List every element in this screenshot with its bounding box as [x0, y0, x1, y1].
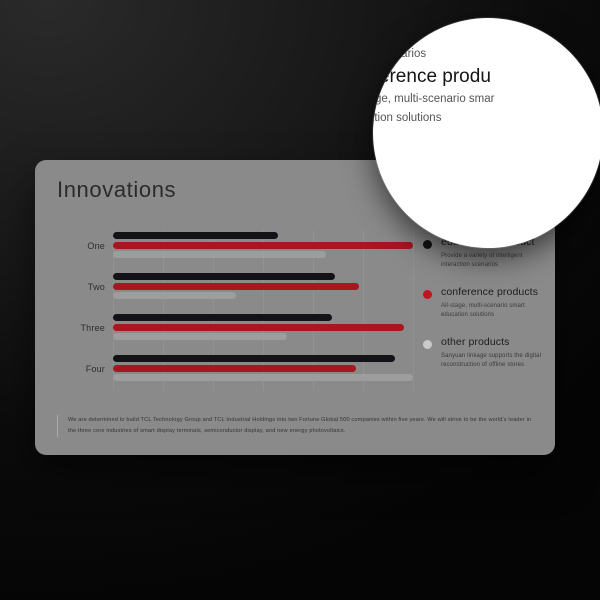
chart-bar — [113, 283, 359, 290]
chart-row-bars — [113, 232, 413, 261]
magnified-description: All-stage, multi-scenario smar — [373, 90, 600, 109]
chart-row: Three — [53, 312, 413, 348]
chart-bar — [113, 314, 332, 321]
chart-row-label: Two — [53, 282, 105, 292]
legend-item-description: Sanyuan linkage supports the digital rec… — [441, 352, 548, 369]
chart-bar — [113, 242, 413, 249]
legend-item-description: All-stage, multi-scenario smart educatio… — [441, 302, 548, 319]
legend-item[interactable]: conference productsAll-stage, multi-scen… — [423, 286, 548, 319]
magnifier-content: a variety of iaction scenariosconference… — [373, 26, 600, 128]
chart-row-label: Three — [53, 323, 105, 333]
legend-item-description: Provide a variety of intelligent interac… — [441, 252, 548, 269]
magnifier-loupe: a variety of iaction scenariosconference… — [373, 18, 600, 248]
chart-bar — [113, 251, 326, 258]
chart-bar — [113, 324, 404, 331]
legend-dot-educational — [423, 240, 432, 249]
gridline — [413, 230, 414, 390]
chart-row: Four — [53, 353, 413, 389]
chart-row-label: One — [53, 241, 105, 251]
chart-row: Two — [53, 271, 413, 307]
legend-item-label: other products — [441, 336, 548, 349]
chart-row-bars — [113, 314, 413, 343]
bar-chart: OneTwoThreeFour — [53, 230, 413, 390]
chart-legend: educational productProvide a variety of … — [423, 236, 548, 386]
magnified-title: conference produ — [373, 64, 600, 90]
chart-bar — [113, 374, 413, 381]
page-title: Innovations — [57, 177, 176, 203]
footer-text: We are determined to build TCL Technolog… — [68, 415, 533, 437]
magnified-description: education solutions — [373, 109, 600, 128]
chart-bar — [113, 333, 287, 340]
chart-row-bars — [113, 355, 413, 384]
chart-bar — [113, 292, 236, 299]
legend-item-label: conference products — [441, 286, 548, 299]
chart-bar — [113, 273, 335, 280]
legend-item[interactable]: other productsSanyuan linkage supports t… — [423, 336, 548, 369]
legend-dot-conference — [423, 290, 432, 299]
magnified-description: a variety of i — [373, 26, 600, 45]
chart-bar — [113, 365, 356, 372]
magnified-description: action scenarios — [373, 45, 600, 64]
chart-bar — [113, 232, 278, 239]
footer: We are determined to build TCL Technolog… — [57, 415, 533, 437]
chart-row-label: Four — [53, 364, 105, 374]
legend-dot-other — [423, 340, 432, 349]
chart-row-bars — [113, 273, 413, 302]
chart-row: One — [53, 230, 413, 266]
chart-bar — [113, 355, 395, 362]
